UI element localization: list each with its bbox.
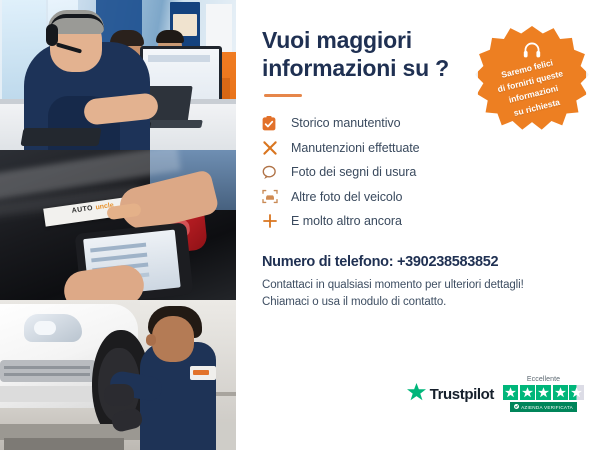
- trustpilot-star-icon: [407, 383, 426, 406]
- list-item-label: Altre foto del veicolo: [284, 190, 402, 204]
- headline-line-2: informazioni su ?: [262, 55, 449, 81]
- star-icon: [553, 385, 568, 400]
- phone-number[interactable]: +390238583852: [397, 254, 498, 270]
- list-item-label: E molto altro ancora: [284, 214, 402, 228]
- phone-label: Numero di telefono:: [262, 254, 393, 270]
- star-icon-half: [569, 385, 584, 400]
- list-item: Altre foto del veicolo: [262, 185, 578, 210]
- mechanic-wheel-inspection-photo: [0, 300, 236, 450]
- phone-line: Numero di telefono: +390238583852: [262, 254, 578, 270]
- list-item: E molto altro ancora: [262, 209, 578, 234]
- photo-column: [0, 0, 236, 450]
- list-item-label: Storico manutentivo: [284, 116, 401, 130]
- car-photo-frame-icon: [262, 189, 284, 204]
- trustpilot-widget[interactable]: Trustpilot Eccellente AZIENDA VERIFICATA: [407, 376, 584, 412]
- verified-badge: AZIENDA VERIFICATA: [510, 402, 577, 412]
- verified-label: AZIENDA VERIFICATA: [521, 405, 573, 410]
- call-center-agent-photo: [0, 0, 236, 150]
- rating-label: Eccellente: [527, 376, 560, 383]
- list-item-label: Foto dei segni di usura: [284, 165, 416, 179]
- plus-icon: [262, 213, 284, 229]
- star-icon: [503, 385, 518, 400]
- list-item: Foto dei segni di usura: [262, 160, 578, 185]
- clipboard-check-icon: [262, 116, 284, 131]
- verified-check-icon: [514, 404, 519, 410]
- trustpilot-rating: Eccellente AZIENDA VERIFICATA: [503, 376, 584, 412]
- speech-bubble-icon: [262, 165, 284, 180]
- crossed-tools-icon: [262, 140, 284, 156]
- star-rating: [503, 385, 584, 400]
- headline-line-1: Vuoi maggiori: [262, 27, 412, 53]
- contact-subtext: Contattaci in qualsiasi momento per ulte…: [262, 277, 578, 313]
- page-title: Vuoi maggiori informazioni su ?: [262, 26, 472, 82]
- star-icon: [520, 385, 535, 400]
- contact-subtext-line-2: Chiamaci o usa il modulo di contatto.: [262, 296, 446, 308]
- list-item: Manutenzioni effettuate: [262, 136, 578, 161]
- callout-badge: Saremo felici di fornirti queste informa…: [478, 26, 586, 134]
- title-underline-rule: [264, 94, 302, 97]
- content-panel: Vuoi maggiori informazioni su ? Saremo f…: [236, 0, 600, 450]
- trustpilot-brand-name: Trustpilot: [430, 386, 494, 403]
- star-icon: [536, 385, 551, 400]
- promo-banner: Vuoi maggiori informazioni su ? Saremo f…: [0, 0, 600, 450]
- contact-subtext-line-1: Contattaci in qualsiasi momento per ulte…: [262, 279, 524, 291]
- trustpilot-logo: Trustpilot: [407, 383, 494, 406]
- vehicle-sticker-tablet-photo: [0, 150, 236, 300]
- list-item-label: Manutenzioni effettuate: [284, 141, 420, 155]
